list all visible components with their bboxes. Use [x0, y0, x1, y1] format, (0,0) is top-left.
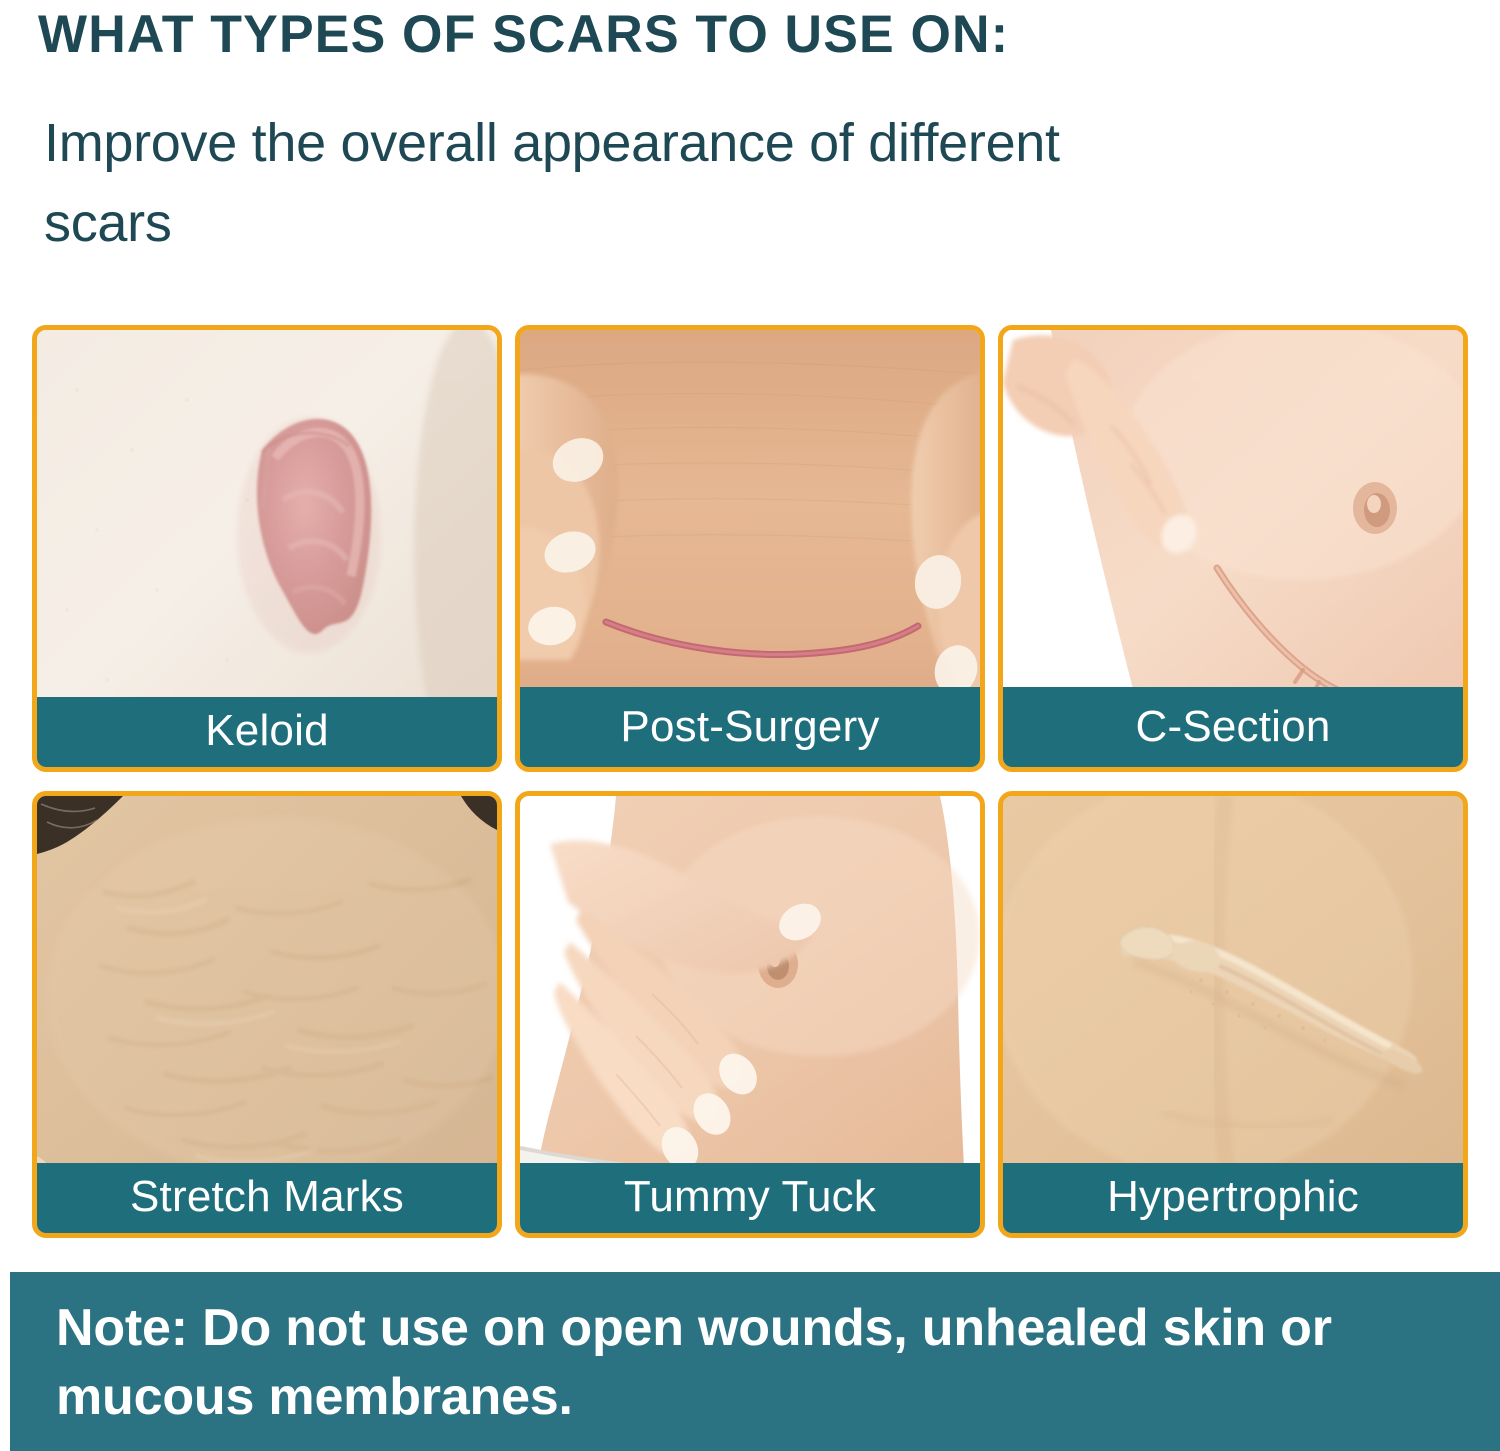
- card-caption-label: C-Section: [1003, 687, 1463, 767]
- warning-note-text: Note: Do not use on open wounds, unheale…: [56, 1294, 1386, 1432]
- scar-card-hypertrophic[interactable]: Hypertrophic: [998, 791, 1468, 1238]
- page-subtitle: Improve the overall appearance of differ…: [44, 104, 1194, 264]
- scar-card-keloid[interactable]: Keloid: [32, 325, 502, 772]
- card-caption-label: Hypertrophic: [1003, 1163, 1463, 1233]
- scar-type-grid: Keloid: [32, 325, 1468, 1238]
- card-caption-label: Keloid: [37, 697, 497, 767]
- card-caption-label: Stretch Marks: [37, 1163, 497, 1233]
- scar-card-post-surgery[interactable]: Post-Surgery: [515, 325, 985, 772]
- page-title: WHAT TYPES OF SCARS TO USE ON:: [38, 4, 1009, 65]
- infographic-page: WHAT TYPES OF SCARS TO USE ON: Improve t…: [0, 0, 1500, 1451]
- card-caption-label: Tummy Tuck: [520, 1163, 980, 1233]
- warning-note-bar: Note: Do not use on open wounds, unheale…: [10, 1272, 1500, 1451]
- card-caption-label: Post-Surgery: [520, 687, 980, 767]
- scar-card-stretch-marks[interactable]: Stretch Marks: [32, 791, 502, 1238]
- scar-card-tummy-tuck[interactable]: Tummy Tuck: [515, 791, 985, 1238]
- scar-card-c-section[interactable]: C-Section: [998, 325, 1468, 772]
